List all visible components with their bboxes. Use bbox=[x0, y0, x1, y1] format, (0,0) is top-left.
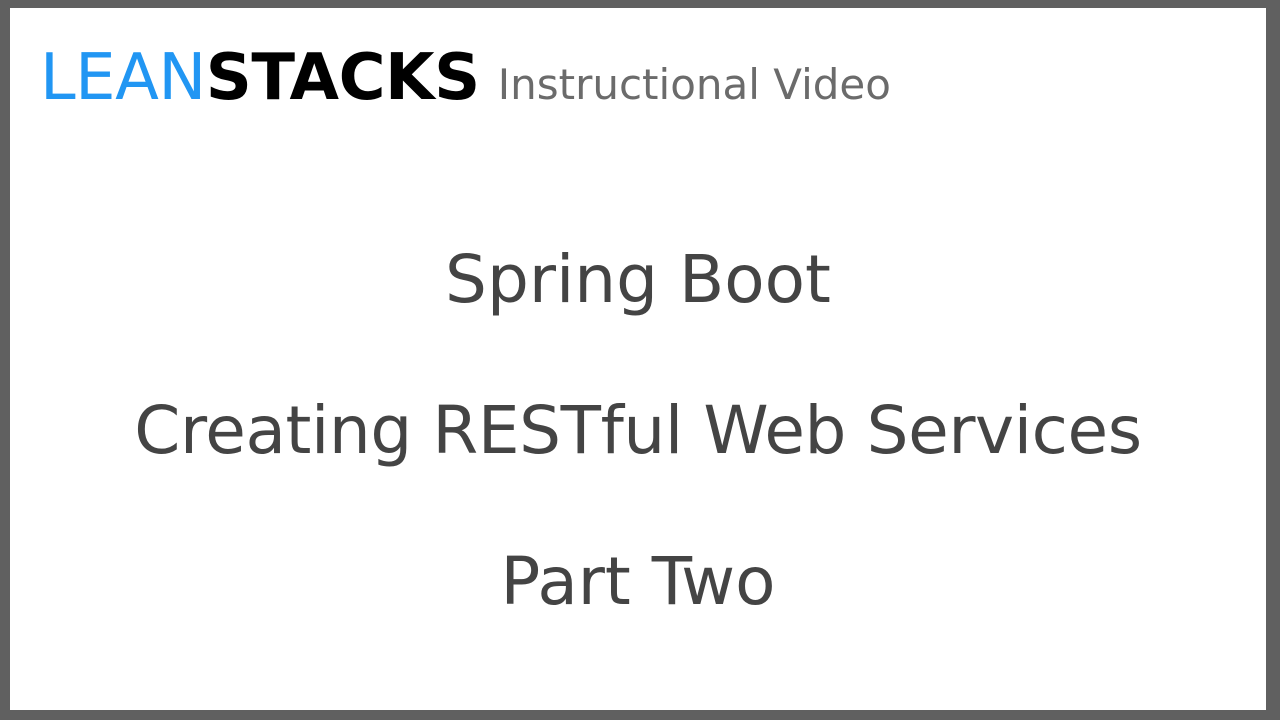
header-subtitle: Instructional Video bbox=[498, 64, 891, 106]
slide-title-line-3: Part Two bbox=[10, 506, 1266, 657]
slide-canvas: LEANSTACKS Instructional Video Spring Bo… bbox=[10, 8, 1266, 710]
brand-logo: LEANSTACKS bbox=[40, 46, 480, 110]
slide-body: Spring Boot Creating RESTful Web Service… bbox=[10, 204, 1266, 657]
brand-header: LEANSTACKS Instructional Video bbox=[40, 46, 891, 110]
slide-title-line-2: Creating RESTful Web Services bbox=[10, 355, 1266, 506]
brand-logo-stacks: STACKS bbox=[206, 41, 480, 115]
brand-logo-lean: LEAN bbox=[40, 41, 206, 115]
video-frame: LEANSTACKS Instructional Video Spring Bo… bbox=[0, 0, 1280, 720]
slide-title-line-1: Spring Boot bbox=[10, 204, 1266, 355]
